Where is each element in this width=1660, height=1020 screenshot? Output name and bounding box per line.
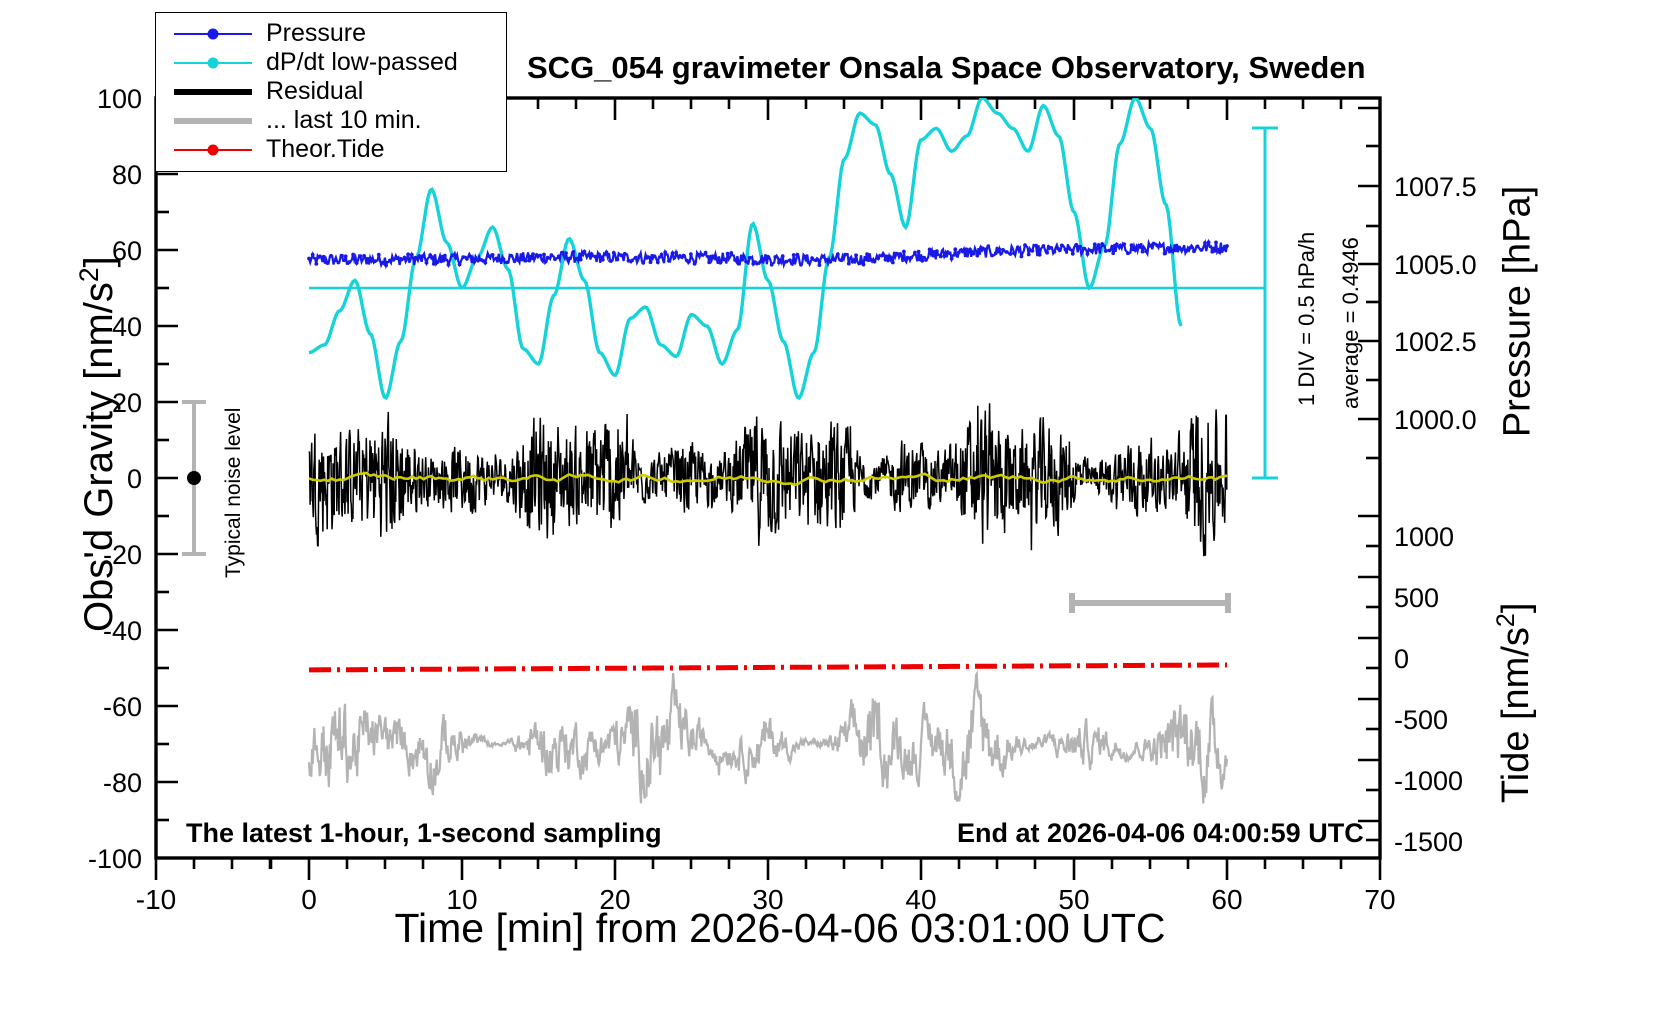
y-axis-title-left-sup: 2	[74, 267, 104, 282]
y-axis-title-right-pressure: Pressure [hPa]	[1497, 112, 1540, 512]
y-tick-label-tide: 1000	[1394, 522, 1504, 553]
y-axis-title-left-tail: ]	[77, 256, 121, 267]
y-axis-title-right-tide-text: Tide [nm/s	[1495, 627, 1537, 803]
y-tick-label-pressure: 1000.0	[1394, 405, 1504, 436]
legend-label: Pressure	[266, 21, 366, 46]
y-tick-label-left: -80	[78, 768, 142, 799]
x-axis-ticks	[156, 858, 1380, 880]
legend-item-residual[interactable]: Residual	[156, 77, 506, 106]
legend-item-last-10-min[interactable]: ... last 10 min.	[156, 106, 506, 135]
y-tick-label-tide: 500	[1394, 583, 1504, 614]
y-axis-left-ticks	[156, 98, 178, 858]
legend-swatch-residual	[174, 82, 252, 102]
y-tick-label-tide: -500	[1394, 705, 1504, 736]
annotation-div-scale: 1 DIV = 0.5 hPa/h	[1294, 232, 1320, 406]
y-axis-title-left: Obs'd Gravity [nm/s2]	[74, 124, 122, 764]
y-tick-label-left: -100	[78, 844, 142, 875]
x-axis-title: Time [min] from 2026-04-06 03:01:00 UTC	[180, 905, 1380, 952]
legend-swatch-dpdt	[174, 53, 252, 73]
y-tick-label-pressure: 1002.5	[1394, 327, 1504, 358]
y-axis-right-ticks	[1358, 108, 1380, 858]
typical-noise-level-bar	[182, 402, 206, 554]
chart-legend: Pressure dP/dt low-passed Residual ... l…	[155, 12, 507, 172]
y-axis-title-right-tide: Tide [nm/s2]	[1492, 518, 1538, 888]
y-tick-label-tide: 0	[1394, 644, 1504, 675]
y-axis-title-right-tide-tail: ]	[1495, 603, 1537, 614]
y-axis-title-left-text: Obs'd Gravity [nm/s	[77, 282, 121, 632]
last-10-min-span-bar	[1072, 593, 1228, 613]
legend-swatch-pressure	[174, 24, 252, 44]
annotation-bottom-right: End at 2026-04-06 04:00:59 UTC	[957, 818, 1364, 849]
legend-item-dpdt[interactable]: dP/dt low-passed	[156, 48, 506, 77]
legend-label: ... last 10 min.	[266, 108, 422, 133]
legend-swatch-theor-tide	[174, 140, 252, 160]
legend-label: dP/dt low-passed	[266, 50, 458, 75]
y-tick-label-tide: -1500	[1394, 827, 1504, 858]
legend-swatch-last-10-min	[174, 111, 252, 131]
legend-label: Residual	[266, 79, 363, 104]
dpdt-scale-bar	[1252, 128, 1278, 478]
legend-item-pressure[interactable]: Pressure	[156, 19, 506, 48]
y-tick-label-tide: -1000	[1394, 766, 1504, 797]
y-axis-title-right-tide-sup: 2	[1492, 613, 1520, 627]
chart-title: SCG_054 gravimeter Onsala Space Observat…	[527, 50, 1366, 86]
y-tick-label-pressure: 1007.5	[1394, 172, 1504, 203]
annotation-bottom-left: The latest 1-hour, 1-second sampling	[186, 818, 662, 849]
y-tick-label-pressure: 1005.0	[1394, 250, 1504, 281]
series-theoretical-tide	[309, 665, 1227, 670]
annotation-typical-noise-level: Typical noise level	[222, 408, 246, 578]
series-last-10-min	[309, 673, 1227, 803]
annotation-average: average = 0.4946	[1338, 237, 1364, 409]
legend-label: Theor.Tide	[266, 137, 385, 162]
legend-item-theor-tide[interactable]: Theor.Tide	[156, 135, 506, 164]
y-tick-label-left: 100	[78, 84, 142, 115]
